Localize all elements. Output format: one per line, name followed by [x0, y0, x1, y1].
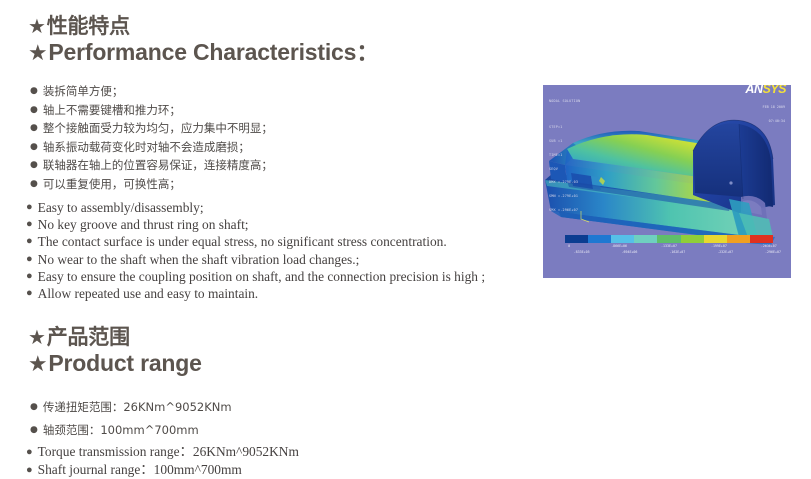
colorbar-band: [750, 235, 773, 243]
list-item: ●No wear to the shaft when the shaft vib…: [26, 251, 485, 268]
colorbar-band: [634, 235, 657, 243]
list-item: ●整个接触面受力较为均匀，应力集中不明显；: [30, 119, 273, 138]
list-item: ●装拆简单方便；: [30, 82, 273, 101]
list-item: ●轴上不需要键槽和推力环；: [30, 101, 273, 120]
list-item: ●Allow repeated use and easy to maintain…: [26, 285, 485, 302]
fea-date: FEB 18 2009: [763, 105, 785, 110]
colorbar-tick-label: .199E+07: [711, 244, 727, 248]
performance-heading-cn-text: 性能特点: [47, 14, 130, 38]
list-item-text: No wear to the shaft when the shaft vibr…: [38, 251, 360, 268]
bullet-icon: ●: [26, 233, 33, 250]
list-item: ●Shaft journal range：100mm^700mm: [26, 461, 299, 479]
list-item-text: Shaft journal range：100mm^700mm: [38, 461, 242, 479]
list-item-text: Allow repeated use and easy to maintain.: [38, 285, 259, 302]
fea-header-line: SMN =.279E+01: [549, 194, 580, 199]
colorbar-tick-label: .866E+06: [611, 244, 627, 248]
bullet-icon: ●: [30, 175, 38, 194]
fea-header-line: DMX =.279E-03: [549, 180, 580, 185]
fea-header-line: TIME=1: [549, 153, 580, 158]
bullet-icon: ●: [26, 443, 33, 461]
list-item: ●Easy to ensure the coupling position on…: [26, 268, 485, 285]
list-item-text: 传递扭矩范围：26KNm^9052KNm: [43, 396, 232, 419]
fea-header-line: SUB =1: [549, 139, 580, 144]
list-item: ●传递扭矩范围：26KNm^9052KNm: [30, 396, 232, 419]
fea-colorbar-strip: [565, 235, 773, 243]
bullet-icon: ●: [26, 199, 33, 216]
colorbar-band: [588, 235, 611, 243]
colorbar-tick-label: .133E+07: [661, 244, 677, 248]
list-item-text: 可以重复使用，可换性高；: [43, 175, 181, 194]
bullet-icon: ●: [26, 216, 33, 233]
product-range-heading-cn: ★产品范围: [28, 325, 202, 350]
colorbar-tick-label: .162E+07: [669, 250, 685, 254]
fea-header-line: SEQV: [549, 167, 580, 172]
performance-heading-cn: ★性能特点: [28, 14, 379, 39]
product-range-heading-cn-text: 产品范围: [47, 325, 130, 349]
list-item-text: 轴颈范围：100mm^700mm: [43, 419, 199, 442]
product-range-bullets-cn: ●传递扭矩范围：26KNm^9052KNm ●轴颈范围：100mm^700mm: [30, 396, 232, 442]
product-range-bullets-en: ●Torque transmission range：26KNm^9052KNm…: [26, 443, 299, 479]
colorbar-band: [611, 235, 634, 243]
bullet-icon: ●: [26, 285, 33, 302]
fea-timestamp: FEB 18 2009 07:40:34: [763, 96, 785, 133]
fea-header-line: STEP=1: [549, 125, 580, 130]
fea-header-gap: [549, 113, 580, 116]
list-item: ●The contact surface is under equal stre…: [26, 233, 485, 250]
list-item: ●联轴器在轴上的位置容易保证，连接精度高；: [30, 156, 273, 175]
star-icon: ★: [28, 325, 46, 349]
ansys-logo: ANSYS: [745, 85, 786, 96]
bullet-icon: ●: [30, 101, 38, 120]
list-item-text: 轴系振动载荷变化时对轴不会造成磨损；: [43, 138, 250, 157]
colorbar-band: [657, 235, 680, 243]
list-item-text: 联轴器在轴上的位置容易保证，连接精度高；: [43, 156, 273, 175]
fea-colorbar: 0.866E+06.133E+07.199E+07.263E+07 .833E+…: [565, 235, 773, 256]
performance-bullets-cn: ●装拆简单方便； ●轴上不需要键槽和推力环； ●整个接触面受力较为均匀，应力集中…: [30, 82, 273, 193]
product-range-heading-en: ★Product range: [28, 350, 202, 378]
list-item-text: Torque transmission range：26KNm^9052KNm: [38, 443, 299, 461]
list-item: ●可以重复使用，可换性高；: [30, 175, 273, 194]
fea-time: 07:40:34: [763, 119, 785, 124]
colorbar-tick-label: .694E+06: [622, 250, 638, 254]
colorbar-band: [704, 235, 727, 243]
bullet-icon: ●: [30, 138, 38, 157]
list-item-text: No key groove and thrust ring on shaft;: [38, 216, 249, 233]
list-item: ●Easy to assembly/disassembly;: [26, 199, 485, 216]
colorbar-band: [727, 235, 750, 243]
bullet-icon: ●: [26, 268, 33, 285]
ansys-logo-part2: SYS: [762, 85, 786, 96]
list-item-text: 轴上不需要键槽和推力环；: [43, 101, 181, 120]
list-item: ●轴颈范围：100mm^700mm: [30, 419, 232, 442]
list-item: ●Torque transmission range：26KNm^9052KNm: [26, 443, 299, 461]
performance-bullets-en: ●Easy to assembly/disassembly; ●No key g…: [26, 199, 485, 302]
star-icon: ★: [28, 14, 46, 38]
colorbar-tick-label: .263E+07: [761, 244, 777, 248]
list-item: ●No key groove and thrust ring on shaft;: [26, 216, 485, 233]
colorbar-tick-label: .296E+07: [765, 250, 781, 254]
star-icon: ★: [28, 352, 47, 377]
bullet-icon: ●: [30, 119, 38, 138]
bullet-icon: ●: [30, 419, 38, 442]
list-item-text: The contact surface is under equal stres…: [38, 233, 447, 250]
fea-header-line: NODAL SOLUTION: [549, 99, 580, 104]
ansys-logo-part1: AN: [745, 85, 762, 96]
ansys-fea-figure: NODAL SOLUTION STEP=1 SUB =1 TIME=1 SEQV…: [543, 85, 791, 278]
colorbar-band: [565, 235, 588, 243]
bullet-icon: ●: [26, 461, 33, 479]
list-item-text: 装拆简单方便；: [43, 82, 124, 101]
fea-colorbar-labels-lower: .833E+05.694E+06.162E+07.232E+07.296E+07: [565, 250, 773, 256]
colorbar-tick-label: 0: [568, 244, 570, 248]
colorbar-band: [681, 235, 704, 243]
product-range-heading-en-text: Product range: [48, 350, 201, 376]
list-item-text: Easy to ensure the coupling position on …: [38, 268, 485, 285]
list-item-text: Easy to assembly/disassembly;: [38, 199, 204, 216]
bullet-icon: ●: [30, 396, 38, 419]
product-range-heading-block: ★产品范围 ★Product range: [28, 325, 202, 378]
list-item: ●轴系振动载荷变化时对轴不会造成磨损；: [30, 138, 273, 157]
performance-heading-block: ★性能特点 ★Performance Characteristics：: [28, 14, 379, 67]
bullet-icon: ●: [30, 82, 38, 101]
fea-header-annotation: NODAL SOLUTION STEP=1 SUB =1 TIME=1 SEQV…: [549, 90, 580, 222]
list-item-text: 整个接触面受力较为均匀，应力集中不明显；: [43, 119, 273, 138]
colorbar-tick-label: .232E+07: [717, 250, 733, 254]
bullet-icon: ●: [30, 156, 38, 175]
star-icon: ★: [28, 41, 47, 66]
fea-header-line: SMX =.296E+07: [549, 208, 580, 213]
performance-heading-en: ★Performance Characteristics：: [28, 39, 379, 67]
performance-heading-en-text: Performance Characteristics：: [48, 39, 379, 65]
colorbar-tick-label: .833E+05: [574, 250, 590, 254]
bullet-icon: ●: [26, 251, 33, 268]
